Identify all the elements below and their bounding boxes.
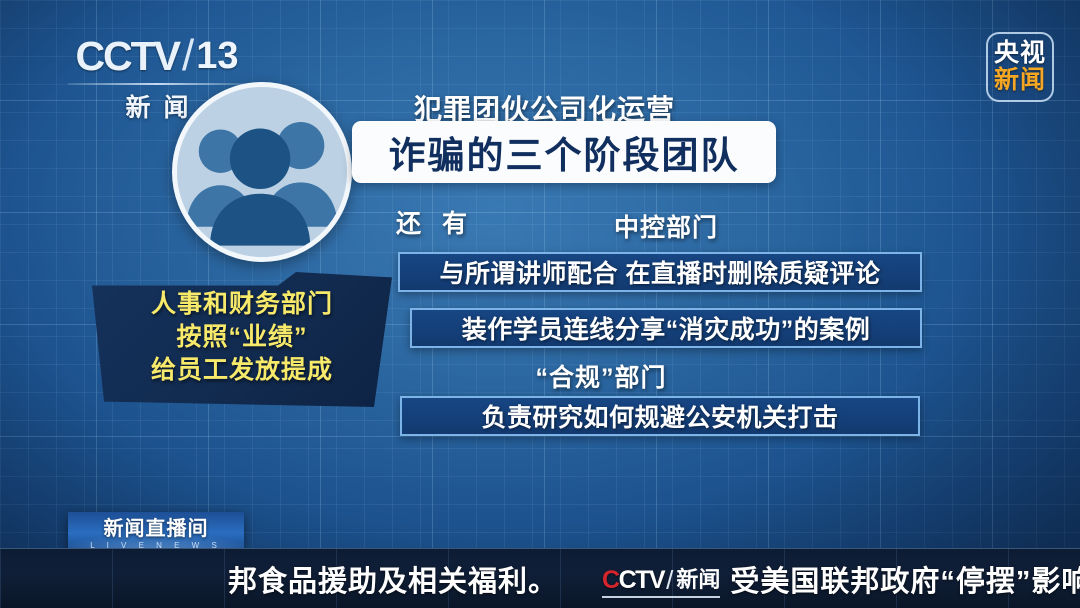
inline-logo-word: CCTV (602, 568, 664, 593)
broadcast-screen: CCTV / 13 新闻 央视 新闻 犯罪团伙公 (0, 0, 1080, 608)
headline-title: 诈骗的三个阶段团队 (389, 125, 740, 179)
left-callout-line1: 人事和财务部门 (92, 288, 392, 321)
cctv-news-inline-logo: CCTV / 新闻 (602, 567, 720, 593)
ticker-current-item: 受美国联邦政府“停摆”影响， (730, 558, 1080, 600)
content-bar: 装作学员连线分享“消灾成功”的案例 (410, 308, 922, 348)
inline-logo-slash: / (666, 567, 673, 593)
ticker-content: 邦食品援助及相关福利。 CCTV / 新闻 受美国联邦政府“停摆”影响， (228, 549, 1080, 608)
content-bar: 负责研究如何规避公安机关打击 (400, 396, 920, 436)
headline-title-box: 诈骗的三个阶段团队 (352, 121, 776, 183)
left-callout-line2: 按照“业绩” (92, 321, 392, 354)
network-badge-line1: 央视 (994, 40, 1046, 67)
people-group-icon (172, 82, 352, 262)
section-heading-1: 中控部门 (406, 208, 926, 244)
section-heading-2: “合规”部门 (406, 358, 796, 394)
program-name-en: L I V E N E W S (90, 542, 222, 550)
left-callout-line3: 给员工发放提成 (92, 354, 392, 387)
inline-logo-underline (602, 596, 720, 598)
news-ticker: 邦食品援助及相关福利。 CCTV / 新闻 受美国联邦政府“停摆”影响， (0, 548, 1080, 608)
program-name-cn: 新闻直播间 (104, 519, 209, 539)
channel-logo-slash: / (182, 34, 194, 78)
content-bar: 与所谓讲师配合 在直播时删除质疑评论 (398, 252, 922, 292)
channel-logo-word: CCTV (75, 36, 179, 77)
network-badge: 央视 新闻 (986, 32, 1054, 102)
content-bar-text: 装作学员连线分享“消灾成功”的案例 (462, 310, 871, 346)
network-badge-line2: 新闻 (994, 67, 1046, 94)
left-callout-text: 人事和财务部门 按照“业绩” 给员工发放提成 (92, 288, 392, 387)
inline-logo-cn: 新闻 (676, 569, 720, 591)
content-bar-text: 与所谓讲师配合 在直播时删除质疑评论 (440, 254, 881, 290)
program-bug-title: 新闻直播间 L I V E N E W S (68, 512, 244, 556)
content-bar-text: 负责研究如何规避公安机关打击 (481, 398, 838, 434)
channel-logo-divider (68, 83, 246, 85)
channel-logo-number: 13 (196, 37, 238, 75)
ticker-previous-item: 邦食品援助及相关福利。 (228, 558, 558, 600)
